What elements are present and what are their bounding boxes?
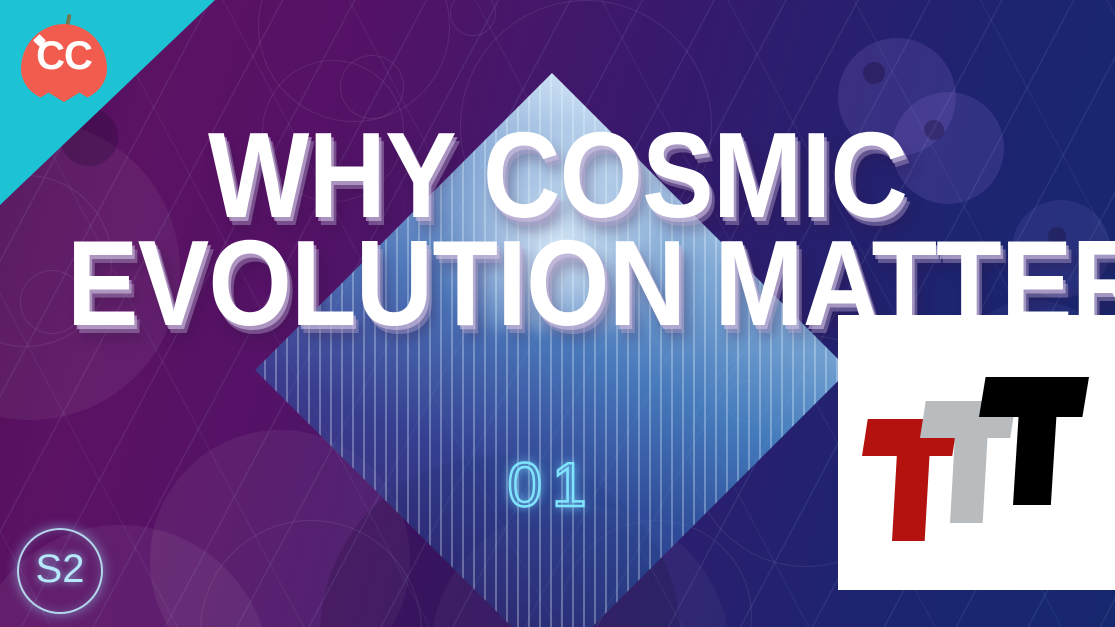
ttt-letter-black-icon <box>979 377 1089 505</box>
bg-blob <box>863 62 885 84</box>
episode-number: 01 <box>342 450 762 521</box>
bg-ring <box>258 0 450 122</box>
bg-ring <box>450 0 496 36</box>
season-badge: S2 <box>17 528 103 614</box>
video-thumbnail: 01 WHY COSMIC EVOLUTION MATTERS CC S2 <box>0 0 1115 627</box>
crash-course-initials: CC <box>18 34 110 78</box>
season-badge-label: S2 <box>19 530 101 612</box>
ttt-logo-card[interactable] <box>838 315 1115 590</box>
crash-course-apple-icon[interactable]: CC <box>18 12 110 104</box>
title-block: WHY COSMIC EVOLUTION MATTERS <box>0 118 1115 342</box>
ttt-black-stem <box>1013 407 1057 505</box>
